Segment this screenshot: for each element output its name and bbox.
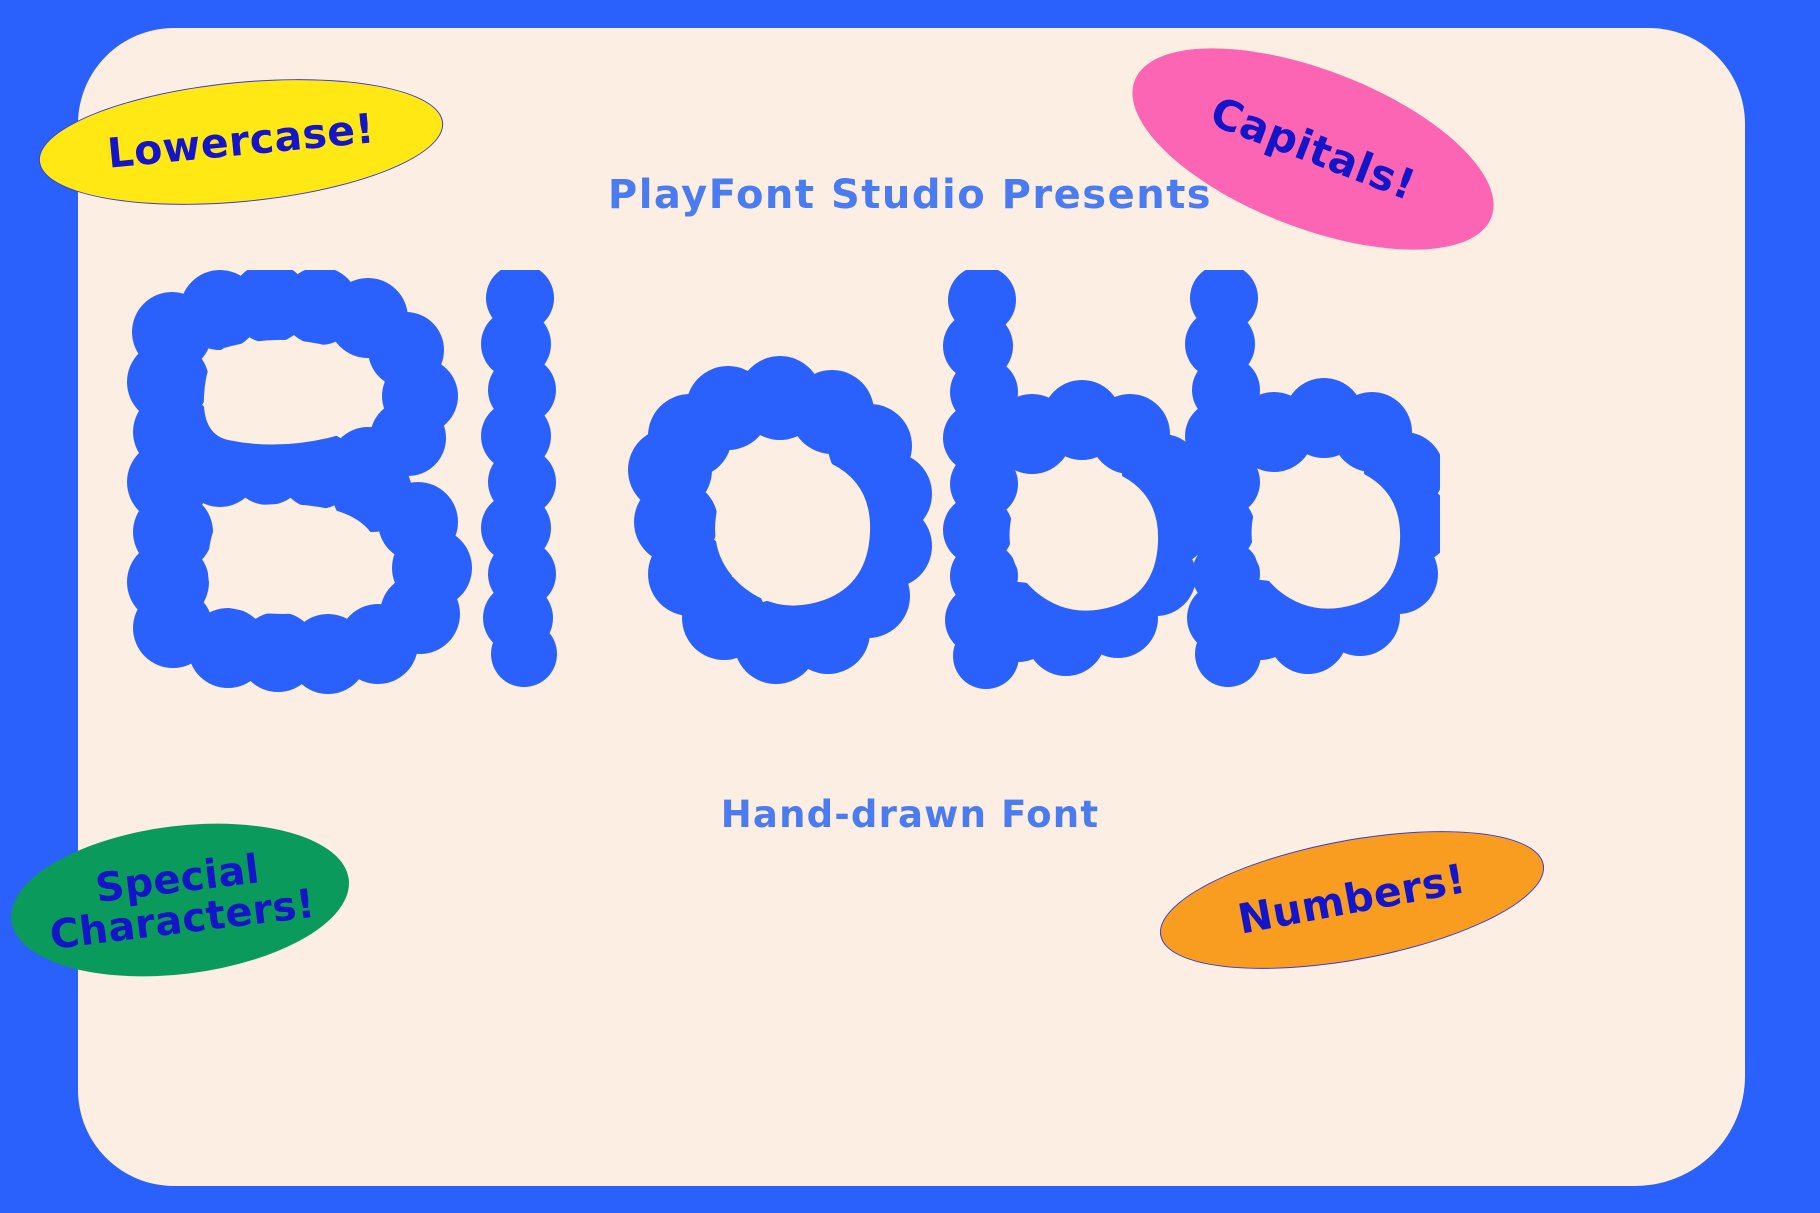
wordmark-blobbi — [120, 270, 1440, 700]
poster-canvas: PlayFont Studio Presents — [0, 0, 1820, 1213]
badge-numbers-label: Numbers! — [1235, 858, 1469, 941]
badge-capitals-label: Capitals! — [1205, 90, 1421, 207]
badge-lowercase-label: Lowercase! — [106, 108, 377, 175]
